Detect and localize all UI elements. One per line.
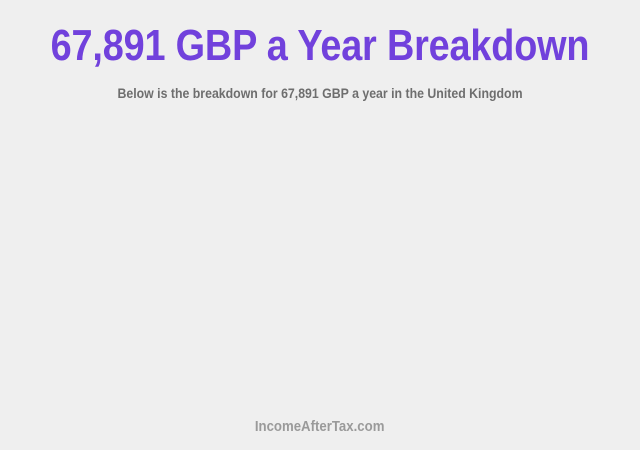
page-footer: IncomeAfterTax.com [0, 418, 640, 436]
chart-placeholder [0, 115, 640, 405]
breakdown-page: 67,891 GBP a Year Breakdown Below is the… [0, 0, 640, 450]
site-credit: IncomeAfterTax.com [255, 418, 385, 436]
chart-area [0, 115, 640, 405]
page-subtitle: Below is the breakdown for 67,891 GBP a … [38, 84, 601, 102]
page-title: 67,891 GBP a Year Breakdown [45, 20, 595, 72]
